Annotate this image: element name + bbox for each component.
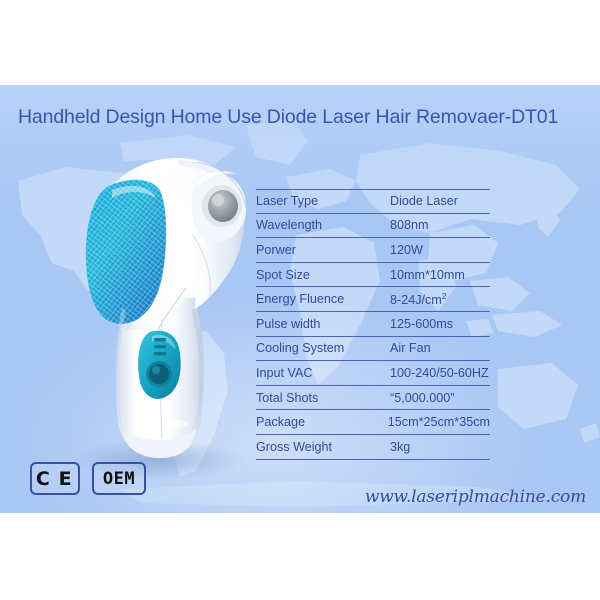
table-row: Wavelength 808nm — [256, 214, 490, 239]
table-row: Package 15cm*25cm*35cm — [256, 410, 490, 435]
table-row: Laser Type Diode Laser — [256, 189, 490, 214]
table-row: Cooling System Air Fan — [256, 337, 490, 362]
spec-label: Pulse width — [256, 317, 390, 331]
spec-label: Gross Weight — [256, 440, 390, 454]
table-row: Porwer 120W — [256, 238, 490, 263]
spec-value: 100-240/50-60HZ — [390, 366, 490, 380]
spec-value: 8-24J/cm2 — [390, 291, 490, 307]
spec-label: Package — [256, 415, 388, 429]
table-row: Input VAC 100-240/50-60HZ — [256, 361, 490, 386]
table-row: Energy Fluence 8-24J/cm2 — [256, 287, 490, 312]
spec-label: Energy Fluence — [256, 292, 390, 306]
website-url: www.laseriplmachine.com — [0, 487, 586, 507]
spec-label: Input VAC — [256, 366, 390, 380]
spec-value: 15cm*25cm*35cm — [388, 415, 490, 429]
specification-table: Laser Type Diode Laser Wavelength 808nm … — [256, 189, 490, 460]
spec-value: 3kg — [390, 440, 490, 454]
table-row: Total Shots “5,000.000” — [256, 386, 490, 411]
spec-value: “5,000.000” — [390, 391, 490, 405]
product-device-image — [46, 138, 286, 488]
spec-value: 125-600ms — [390, 317, 490, 331]
spec-value: 120W — [390, 243, 490, 257]
page-title: Handheld Design Home Use Diode Laser Hai… — [18, 106, 594, 129]
product-image-canvas: Handheld Design Home Use Diode Laser Hai… — [0, 0, 600, 600]
table-row: Pulse width 125-600ms — [256, 312, 490, 337]
spec-label: Cooling System — [256, 341, 390, 355]
spec-label: Wavelength — [256, 218, 390, 232]
spec-label: Spot Size — [256, 268, 390, 282]
device-control-pad — [138, 331, 181, 399]
table-row: Spot Size 10mm*10mm — [256, 263, 490, 288]
spec-value: 10mm*10mm — [390, 268, 490, 282]
spec-value: 808nm — [390, 218, 490, 232]
spec-label: Total Shots — [256, 391, 390, 405]
table-row: Gross Weight 3kg — [256, 435, 490, 460]
spec-value: Air Fan — [390, 341, 490, 355]
spec-value: Diode Laser — [390, 194, 490, 208]
spec-label: Porwer — [256, 243, 390, 257]
spec-label: Laser Type — [256, 194, 390, 208]
